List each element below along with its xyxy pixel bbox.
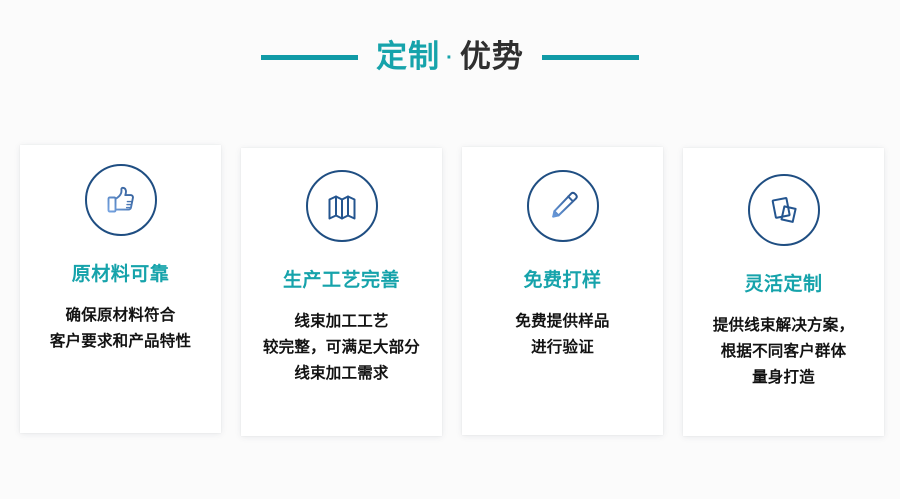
feature-card-heading: 生产工艺完善: [249, 271, 434, 290]
feature-card-heading: 灵活定制: [691, 275, 876, 294]
page-title-primary: 定制: [376, 41, 440, 72]
feature-card-body-line: 根据不同客户群体: [691, 339, 876, 365]
feature-card-heading: 原材料可靠: [28, 265, 213, 284]
feature-card-heading: 免费打样: [470, 271, 655, 290]
feature-card-production-process[interactable]: 生产工艺完善 线束加工工艺 较完整，可满足大部分 线束加工需求: [241, 148, 442, 436]
feature-card-body-line: 较完整，可满足大部分: [249, 335, 434, 361]
feature-card-body-line: 免费提供样品: [470, 309, 655, 335]
title-rule-right: [542, 55, 639, 60]
stacked-cards-icon: [764, 190, 804, 230]
feature-card-list: 原材料可靠 确保原材料符合 客户要求和产品特性 生产工艺完善 线束加工工艺: [20, 145, 884, 436]
icon-circle: [306, 170, 378, 242]
page-title-separator: ·: [446, 48, 454, 68]
icon-circle: [748, 174, 820, 246]
feature-card-free-sample[interactable]: 免费打样 免费提供样品 进行验证: [462, 147, 663, 435]
feature-card-raw-material[interactable]: 原材料可靠 确保原材料符合 客户要求和产品特性: [20, 145, 221, 433]
feature-card-body: 确保原材料符合 客户要求和产品特性: [28, 303, 213, 355]
pencil-icon: [543, 186, 583, 226]
thumbs-up-icon: [101, 180, 141, 220]
section-title: 定制 · 优势: [0, 28, 900, 86]
feature-card-body-line: 客户要求和产品特性: [28, 329, 213, 355]
feature-card-body-line: 进行验证: [470, 335, 655, 361]
feature-card-body-line: 提供线束解决方案，: [691, 313, 876, 339]
feature-card-body-line: 量身打造: [691, 365, 876, 391]
page-title-secondary: 优势: [460, 41, 524, 72]
icon-circle: [527, 170, 599, 242]
feature-card-body: 提供线束解决方案， 根据不同客户群体 量身打造: [691, 313, 876, 391]
title-rule-left: [261, 55, 358, 60]
feature-card-body: 线束加工工艺 较完整，可满足大部分 线束加工需求: [249, 309, 434, 387]
folded-map-icon: [322, 186, 362, 226]
icon-circle: [85, 164, 157, 236]
feature-card-body-line: 线束加工工艺: [249, 309, 434, 335]
feature-card-body-line: 确保原材料符合: [28, 303, 213, 329]
feature-card-body-line: 线束加工需求: [249, 361, 434, 387]
feature-card-body: 免费提供样品 进行验证: [470, 309, 655, 361]
page-title: 定制 · 优势: [376, 41, 524, 72]
feature-card-flexible-customization[interactable]: 灵活定制 提供线束解决方案， 根据不同客户群体 量身打造: [683, 148, 884, 436]
